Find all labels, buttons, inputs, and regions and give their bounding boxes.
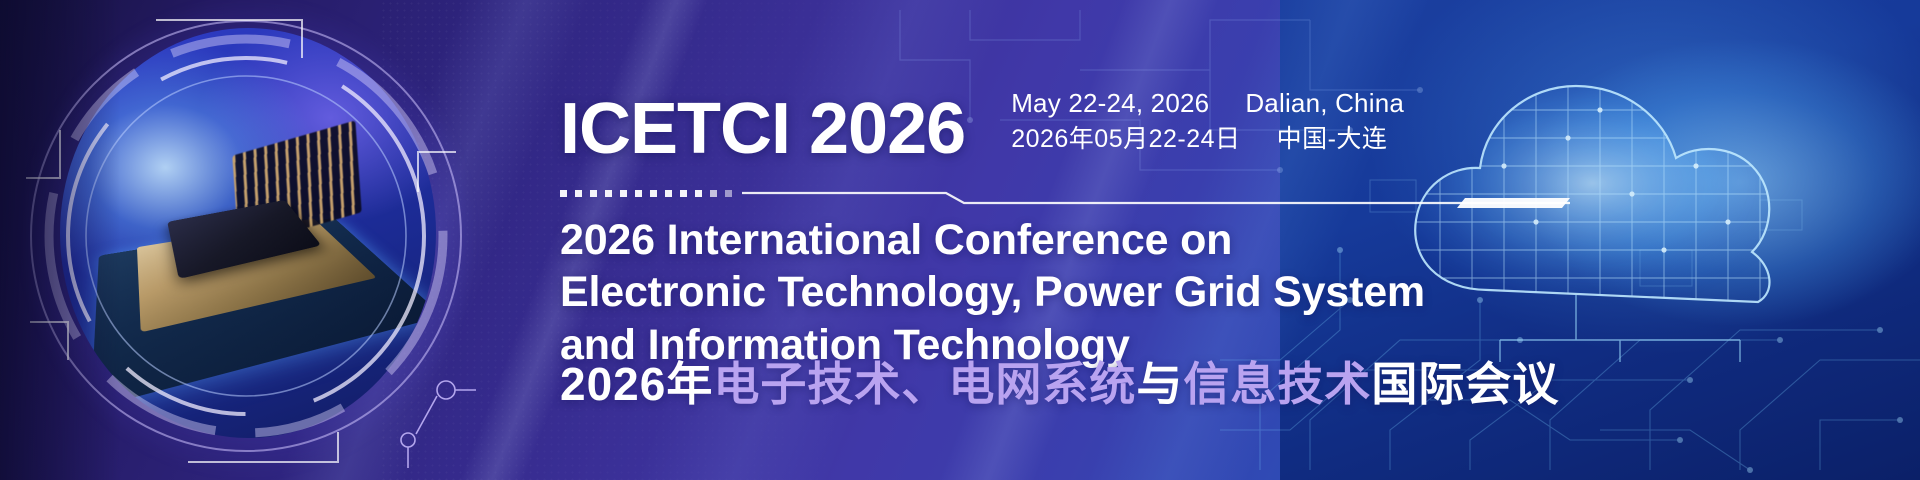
dotted-stepped-divider bbox=[560, 182, 1570, 208]
event-location-cn: 中国-大连 bbox=[1277, 122, 1388, 157]
title-cn-seg-1: 电子技术、 bbox=[713, 358, 948, 410]
event-date-cn: 2026年05月22-24日 bbox=[1011, 122, 1240, 157]
title-cn-seg-5: 国际会议 bbox=[1371, 358, 1559, 410]
title-line-1: 2026 International Conference on bbox=[560, 214, 1540, 266]
event-details-en: May 22-24, 2026 Dalian, China bbox=[1011, 86, 1404, 122]
title-line-2: Electronic Technology, Power Grid System bbox=[560, 266, 1540, 318]
conference-title-cn: 2026年电子技术、电网系统与信息技术国际会议 bbox=[560, 348, 1559, 414]
circuit-chip-emblem bbox=[8, 0, 478, 480]
headline-row: ICETCI 2026 May 22-24, 2026 Dalian, Chin… bbox=[560, 86, 1404, 162]
title-cn-seg-3: 与 bbox=[1136, 358, 1183, 410]
event-date-en: May 22-24, 2026 bbox=[1011, 86, 1209, 122]
event-details: May 22-24, 2026 Dalian, China 2026年05月22… bbox=[1011, 86, 1404, 162]
hud-rings-overlay bbox=[8, 0, 478, 480]
event-location-en: Dalian, China bbox=[1245, 86, 1404, 122]
banner-content: ICETCI 2026 May 22-24, 2026 Dalian, Chin… bbox=[560, 0, 1600, 480]
conference-banner: ICETCI 2026 May 22-24, 2026 Dalian, Chin… bbox=[0, 0, 1920, 480]
event-details-cn: 2026年05月22-24日 中国-大连 bbox=[1011, 122, 1404, 157]
title-cn-seg-4: 信息技术 bbox=[1183, 358, 1371, 410]
conference-acronym: ICETCI 2026 bbox=[560, 96, 965, 162]
title-cn-seg-2: 电网系统 bbox=[948, 358, 1136, 410]
title-cn-seg-0: 2026年 bbox=[560, 358, 713, 410]
